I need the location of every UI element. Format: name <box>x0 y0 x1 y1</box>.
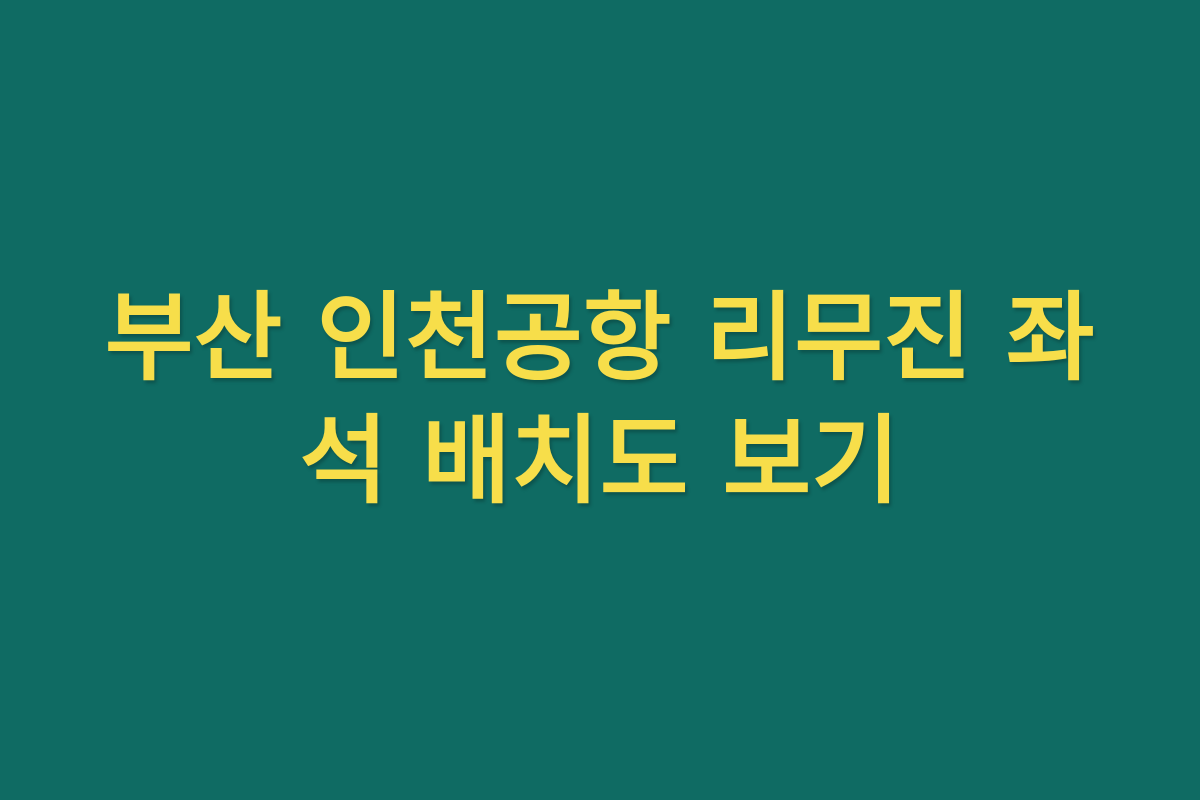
banner-headline: 부산 인천공항 리무진 좌석 배치도 보기 <box>80 277 1120 523</box>
headline-container: 부산 인천공항 리무진 좌석 배치도 보기 <box>80 277 1120 523</box>
banner-canvas: 부산 인천공항 리무진 좌석 배치도 보기 <box>0 0 1200 800</box>
